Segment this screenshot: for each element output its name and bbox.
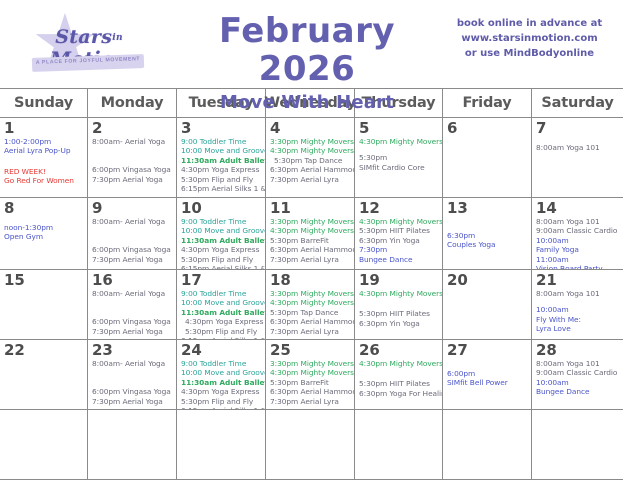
event-item[interactable]: 4:30pm Yoga Express xyxy=(181,387,262,396)
event-item[interactable]: 4:30pm Mighty Movers 1 xyxy=(270,368,351,377)
page-title: February 2026 xyxy=(172,12,442,88)
day-cell-21[interactable]: 218:00am Yoga 10110:00amFly With Me:Lyra… xyxy=(532,270,623,339)
event-item[interactable]: 6:00pm Vingasa Yoga xyxy=(92,245,173,254)
day-cell-empty[interactable] xyxy=(0,410,88,479)
event-item[interactable]: 4:30pm Yoga Express xyxy=(181,245,262,254)
event-list: 8:00am- Aerial Yoga6:00pm Vingasa Yoga7:… xyxy=(92,217,173,264)
booking-info: book online in advance at www.starsinmot… xyxy=(442,0,623,61)
event-item[interactable]: 5:30pm BarreFit xyxy=(270,378,351,387)
day-cell-empty[interactable] xyxy=(266,410,355,479)
event-item[interactable]: SIMfit Bell Power xyxy=(447,378,528,387)
event-list: 8:00am Yoga 1019:00am Classic Cardio10:0… xyxy=(536,217,620,269)
day-number: 13 xyxy=(447,200,528,216)
day-number: 23 xyxy=(92,342,173,358)
day-cell-15[interactable]: 15 xyxy=(0,270,88,339)
event-list: 3:30pm Mighty Movers 14:30pm Mighty Move… xyxy=(270,217,351,264)
event-item[interactable]: 6:30pm Aerial Hammock xyxy=(270,387,351,396)
day-cell-empty[interactable] xyxy=(88,410,177,479)
event-item[interactable]: 5:30pm Flip and Fly xyxy=(181,175,262,184)
day-number: 17 xyxy=(181,272,262,288)
event-item[interactable]: 6:30pm Aerial Hammock xyxy=(270,245,351,254)
event-list: 8:00am- Aerial Yoga6:00pm Vingasa Yoga7:… xyxy=(92,359,173,406)
event-list: 9:00 Toddler Time10:00 Move and Groove11… xyxy=(181,359,262,409)
event-list: 6:30pmCouples Yoga xyxy=(447,231,528,250)
event-item[interactable]: 7:30pm Aerial Yoga xyxy=(92,327,173,336)
event-list: 9:00 Toddler Time10:00 Move and Groove11… xyxy=(181,217,262,269)
day-number: 14 xyxy=(536,200,620,216)
event-item[interactable]: 6:30pm Yin Yoga xyxy=(359,236,439,245)
event-list: 8:00am Yoga 101 xyxy=(536,143,620,152)
day-number: 21 xyxy=(536,272,620,288)
calendar-grid: 11:00-2:00pmAerial Lyra Pop-UpRED WEEK!G… xyxy=(0,118,623,480)
event-list: 8:00am- Aerial Yoga6:00pm Vingasa Yoga7:… xyxy=(92,137,173,184)
event-item[interactable]: 11:30am Adult Ballet xyxy=(181,308,262,317)
event-item[interactable]: 11:30am Adult Ballet xyxy=(181,156,262,165)
event-item[interactable]: 9:00am Classic Cardio xyxy=(536,226,620,235)
event-item[interactable]: 9:00 Toddler Time xyxy=(181,217,262,226)
event-item[interactable]: 4:30pm Mighty Movers 1 xyxy=(270,298,351,307)
day-cell-3[interactable]: 39:00 Toddler Time10:00 Move and Groove1… xyxy=(177,118,266,197)
event-item[interactable]: 6:30pm Yoga For Healing xyxy=(359,389,439,398)
day-cell-13[interactable]: 136:30pmCouples Yoga xyxy=(443,198,532,269)
event-item[interactable]: 7:30pm Aerial Yoga xyxy=(92,397,173,406)
event-item[interactable]: 5:30pm xyxy=(359,153,439,162)
day-cell-14[interactable]: 148:00am Yoga 1019:00am Classic Cardio10… xyxy=(532,198,623,269)
event-item[interactable]: 4:30pm Mighty Movers 1 xyxy=(270,146,351,155)
event-item[interactable]: 3:30pm Mighty Movers 1 xyxy=(270,137,351,146)
event-list: 4:30pm Mighty Movers 25:30pm HIIT Pilate… xyxy=(359,217,439,264)
event-item[interactable]: 10:00am xyxy=(536,305,620,314)
day-cell-20[interactable]: 20 xyxy=(443,270,532,339)
day-number: 26 xyxy=(359,342,439,358)
event-item[interactable]: 6:00pm Vingasa Yoga xyxy=(92,165,173,174)
event-item[interactable]: 8:00am Yoga 101 xyxy=(536,143,620,152)
day-number: 9 xyxy=(92,200,173,216)
week-row: 11:00-2:00pmAerial Lyra Pop-UpRED WEEK!G… xyxy=(0,118,623,198)
event-list: 3:30pm Mighty Movers 14:30pm Mighty Move… xyxy=(270,137,351,184)
event-item[interactable]: Aerial Lyra Pop-Up xyxy=(4,146,84,155)
day-number: 28 xyxy=(536,342,620,358)
event-item[interactable]: 10:00 Move and Groove xyxy=(181,298,262,307)
event-item[interactable]: 11:30am Adult Ballet xyxy=(181,236,262,245)
event-item[interactable]: 4:30pm Yoga Express xyxy=(181,165,262,174)
event-item[interactable]: 7:30pm Aerial Lyra xyxy=(270,397,351,406)
event-item[interactable]: noon-1:30pm xyxy=(4,223,84,232)
event-item[interactable]: RED WEEK! xyxy=(4,167,84,176)
day-cell-empty[interactable] xyxy=(177,410,266,479)
event-item[interactable]: Bungee Dance xyxy=(359,255,439,264)
event-item[interactable]: 9:00 Toddler Time xyxy=(181,289,262,298)
event-item[interactable]: 5:30pm HIIT Pilates xyxy=(359,309,439,318)
event-item[interactable]: Vision Board Party xyxy=(536,264,620,269)
event-item[interactable]: 4:30pm Mighty Movers 1 xyxy=(270,226,351,235)
week-row: 15168:00am- Aerial Yoga6:00pm Vingasa Yo… xyxy=(0,270,623,340)
event-item[interactable]: 7:30pm Aerial Yoga xyxy=(92,255,173,264)
event-item[interactable]: 9:00 Toddler Time xyxy=(181,359,262,368)
event-list: 3:30pm Mighty Movers 14:30pm Mighty Move… xyxy=(270,359,351,406)
event-item[interactable]: 3:30pm Mighty Movers 1 xyxy=(270,359,351,368)
event-item[interactable]: 5:30pm Flip and Fly xyxy=(181,397,262,406)
day-cell-23[interactable]: 238:00am- Aerial Yoga6:00pm Vingasa Yoga… xyxy=(88,340,177,409)
page-subtitle: Move With Heart xyxy=(172,92,442,114)
event-item[interactable]: 6:00pm Vingasa Yoga xyxy=(92,317,173,326)
day-number: 1 xyxy=(4,120,84,136)
day-number: 7 xyxy=(536,120,620,136)
event-list: 4:30pm Mighty Movers 25:30pmSIMfit Cardi… xyxy=(359,137,439,172)
event-item[interactable]: Family Yoga xyxy=(536,245,620,254)
event-list: 9:00 Toddler Time10:00 Move and Groove11… xyxy=(181,137,262,193)
event-list: 1:00-2:00pmAerial Lyra Pop-UpRED WEEK!Go… xyxy=(4,137,84,186)
event-list: 8:00am Yoga 10110:00amFly With Me:Lyra L… xyxy=(536,289,620,334)
day-cell-4[interactable]: 43:30pm Mighty Movers 14:30pm Mighty Mov… xyxy=(266,118,355,197)
event-item[interactable]: 5:30pm HIIT Pilates xyxy=(359,379,439,388)
day-number: 20 xyxy=(447,272,528,288)
day-cell-9[interactable]: 98:00am- Aerial Yoga6:00pm Vingasa Yoga7… xyxy=(88,198,177,269)
event-list: 4:30pm Mighty Movers 25:30pm HIIT Pilate… xyxy=(359,359,439,398)
event-item[interactable]: 6:15pm Aerial Silks 1 & 2 xyxy=(181,336,262,339)
event-item[interactable]: Bungee Dance xyxy=(536,387,620,396)
event-item[interactable]: 7:30pm xyxy=(359,245,439,254)
day-cell-24[interactable]: 249:00 Toddler Time10:00 Move and Groove… xyxy=(177,340,266,409)
event-item[interactable]: 6:00pm Vingasa Yoga xyxy=(92,387,173,396)
event-item[interactable]: Couples Yoga xyxy=(447,240,528,249)
day-number: 15 xyxy=(4,272,84,288)
day-cell-19[interactable]: 194:30pm Mighty Movers 25:30pm HIIT Pila… xyxy=(355,270,443,339)
day-cell-11[interactable]: 113:30pm Mighty Movers 14:30pm Mighty Mo… xyxy=(266,198,355,269)
event-item[interactable]: 8:00am- Aerial Yoga xyxy=(92,289,173,298)
event-item[interactable]: 1:00-2:00pm xyxy=(4,137,84,146)
calendar-header: ★ Starsin Motion A PLACE FOR JOYFUL MOVE… xyxy=(0,0,623,88)
event-item[interactable]: 4:30pm Mighty Movers 2 xyxy=(359,359,439,368)
day-cell-22[interactable]: 22 xyxy=(0,340,88,409)
day-cell-empty[interactable] xyxy=(532,410,623,479)
event-item[interactable]: 6:00pm xyxy=(447,369,528,378)
brand-name-stars: Stars xyxy=(55,26,112,48)
event-item[interactable]: 8:00am Yoga 101 xyxy=(536,289,620,298)
event-list: 3:30pm Mighty Movers 14:30pm Mighty Move… xyxy=(270,289,351,336)
event-item[interactable]: 6:15pm Aerial Silks 1 & 2 xyxy=(181,184,262,193)
booking-line-1: book online in advance at xyxy=(442,16,617,31)
brand-name-in: in xyxy=(112,33,123,43)
event-item[interactable]: 5:30pm HIIT Pilates xyxy=(359,226,439,235)
day-number: 2 xyxy=(92,120,173,136)
event-item[interactable]: 6:30pm Aerial Hammock xyxy=(270,165,351,174)
day-cell-18[interactable]: 183:30pm Mighty Movers 14:30pm Mighty Mo… xyxy=(266,270,355,339)
event-item[interactable]: 3:30pm Mighty Movers 1 xyxy=(270,289,351,298)
event-item[interactable]: 9:00 Toddler Time xyxy=(181,137,262,146)
day-cell-5[interactable]: 54:30pm Mighty Movers 25:30pmSIMfit Card… xyxy=(355,118,443,197)
event-item[interactable]: 6:15pm Aerial Silks 1 & 2 xyxy=(181,406,262,409)
event-item[interactable]: 10:00 Move and Groove xyxy=(181,226,262,235)
day-header-monday: Monday xyxy=(88,89,177,117)
week-row xyxy=(0,410,623,480)
day-number: 16 xyxy=(92,272,173,288)
event-list: 8:00am Yoga 1019:00am Classic Cardio10:0… xyxy=(536,359,620,397)
day-number: 8 xyxy=(4,200,84,216)
day-cell-10[interactable]: 109:00 Toddler Time10:00 Move and Groove… xyxy=(177,198,266,269)
event-item[interactable]: 6:15pm Aerial Silks 1 & 2 xyxy=(181,264,262,269)
day-number: 5 xyxy=(359,120,439,136)
day-number: 19 xyxy=(359,272,439,288)
day-cell-6[interactable]: 6 xyxy=(443,118,532,197)
title-block: February 2026 Move With Heart xyxy=(172,0,442,114)
day-cell-7[interactable]: 78:00am Yoga 101 xyxy=(532,118,623,197)
event-item[interactable]: 10:00am xyxy=(536,378,620,387)
event-item[interactable]: 8:00am- Aerial Yoga xyxy=(92,359,173,368)
event-list: 8:00am- Aerial Yoga6:00pm Vingasa Yoga7:… xyxy=(92,289,173,336)
event-item[interactable]: Fly With Me: xyxy=(536,315,620,324)
event-item[interactable]: 4:30pm Mighty Movers 2 xyxy=(359,217,439,226)
event-item[interactable]: 6:30pm Aerial Hammock xyxy=(270,317,351,326)
day-cell-16[interactable]: 168:00am- Aerial Yoga6:00pm Vingasa Yoga… xyxy=(88,270,177,339)
day-cell-26[interactable]: 264:30pm Mighty Movers 25:30pm HIIT Pila… xyxy=(355,340,443,409)
event-item[interactable]: Go Red For Women xyxy=(4,176,84,185)
booking-website-link[interactable]: www.starsinmotion.com xyxy=(442,31,617,46)
event-list: noon-1:30pmOpen Gym xyxy=(4,223,84,242)
day-cell-12[interactable]: 124:30pm Mighty Movers 25:30pm HIIT Pila… xyxy=(355,198,443,269)
event-item[interactable]: 8:00am- Aerial Yoga xyxy=(92,217,173,226)
day-header-friday: Friday xyxy=(443,89,532,117)
day-header-saturday: Saturday xyxy=(532,89,623,117)
day-number: 25 xyxy=(270,342,351,358)
day-number: 11 xyxy=(270,200,351,216)
day-cell-17[interactable]: 179:00 Toddler Time10:00 Move and Groove… xyxy=(177,270,266,339)
event-item[interactable]: 11:00am xyxy=(536,255,620,264)
day-cell-1[interactable]: 11:00-2:00pmAerial Lyra Pop-UpRED WEEK!G… xyxy=(0,118,88,197)
day-cell-28[interactable]: 288:00am Yoga 1019:00am Classic Cardio10… xyxy=(532,340,623,409)
day-number: 27 xyxy=(447,342,528,358)
event-item[interactable]: 8:00am Yoga 101 xyxy=(536,217,620,226)
event-item[interactable]: 6:30pm Yin Yoga xyxy=(359,319,439,328)
day-number: 10 xyxy=(181,200,262,216)
event-item[interactable]: 8:00am- Aerial Yoga xyxy=(92,137,173,146)
event-list: 4:30pm Mighty Movers 25:30pm HIIT Pilate… xyxy=(359,289,439,328)
day-number: 12 xyxy=(359,200,439,216)
event-item[interactable]: 3:30pm Mighty Movers 1 xyxy=(270,217,351,226)
week-row: 8noon-1:30pmOpen Gym98:00am- Aerial Yoga… xyxy=(0,198,623,270)
day-cell-25[interactable]: 253:30pm Mighty Movers 14:30pm Mighty Mo… xyxy=(266,340,355,409)
event-item[interactable]: 4:30pm Mighty Movers 2 xyxy=(359,137,439,146)
day-number: 18 xyxy=(270,272,351,288)
event-item[interactable]: 5:30pm Tap Dance xyxy=(270,308,351,317)
event-item[interactable]: 5:30pm BarreFit xyxy=(270,236,351,245)
day-header-sunday: Sunday xyxy=(0,89,88,117)
event-item[interactable]: 5:30pm Flip and Fly xyxy=(181,255,262,264)
day-cell-empty[interactable] xyxy=(355,410,443,479)
event-item[interactable]: 5:30pm Flip and Fly xyxy=(181,327,262,336)
event-item[interactable]: 11:30am Adult Ballet xyxy=(181,378,262,387)
calendar-page: ★ Starsin Motion A PLACE FOR JOYFUL MOVE… xyxy=(0,0,623,480)
week-row: 22238:00am- Aerial Yoga6:00pm Vingasa Yo… xyxy=(0,340,623,410)
event-item[interactable]: 8:00am Yoga 101 xyxy=(536,359,620,368)
event-item[interactable]: 9:00am Classic Cardio xyxy=(536,368,620,377)
event-item[interactable]: 5:30pm Tap Dance xyxy=(270,156,351,165)
event-item[interactable]: 4:30pm Mighty Movers 2 xyxy=(359,289,439,298)
day-cell-empty[interactable] xyxy=(443,410,532,479)
booking-line-3: or use MindBodyonline xyxy=(442,46,617,61)
event-item[interactable]: 10:00am xyxy=(536,236,620,245)
day-number: 4 xyxy=(270,120,351,136)
day-number: 6 xyxy=(447,120,528,136)
day-cell-2[interactable]: 28:00am- Aerial Yoga6:00pm Vingasa Yoga7… xyxy=(88,118,177,197)
event-list: 6:00pmSIMfit Bell Power xyxy=(447,369,528,388)
event-list: 9:00 Toddler Time10:00 Move and Groove11… xyxy=(181,289,262,339)
event-item[interactable]: 10:00 Move and Groove xyxy=(181,368,262,377)
day-cell-8[interactable]: 8noon-1:30pmOpen Gym xyxy=(0,198,88,269)
event-item[interactable]: 7:30pm Aerial Lyra xyxy=(270,255,351,264)
event-item[interactable]: Lyra Love xyxy=(536,324,620,333)
event-item[interactable]: 10:00 Move and Groove xyxy=(181,146,262,155)
event-item[interactable]: SIMfit Cardio Core xyxy=(359,163,439,172)
event-item[interactable]: 7:30pm Aerial Lyra xyxy=(270,327,351,336)
event-item[interactable]: Open Gym xyxy=(4,232,84,241)
day-number: 22 xyxy=(4,342,84,358)
event-item[interactable]: 7:30pm Aerial Lyra xyxy=(270,175,351,184)
event-item[interactable]: 4:30pm Yoga Express xyxy=(181,317,262,326)
day-cell-27[interactable]: 276:00pmSIMfit Bell Power xyxy=(443,340,532,409)
event-item[interactable]: 7:30pm Aerial Yoga xyxy=(92,175,173,184)
day-number: 3 xyxy=(181,120,262,136)
event-item[interactable]: 6:30pm xyxy=(447,231,528,240)
day-number: 24 xyxy=(181,342,262,358)
brand-logo: ★ Starsin Motion A PLACE FOR JOYFUL MOVE… xyxy=(0,0,172,88)
